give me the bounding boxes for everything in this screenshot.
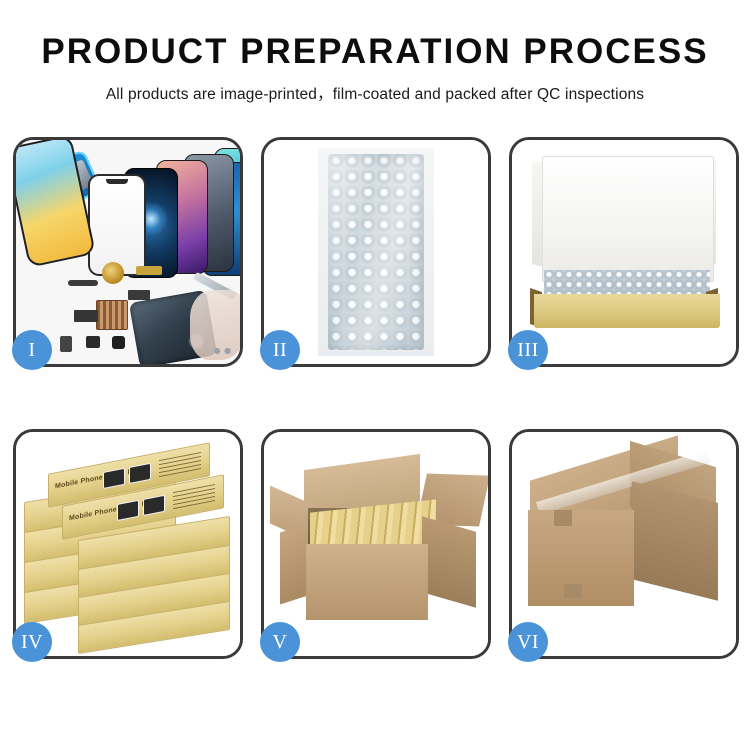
carton-handle-notch-icon xyxy=(564,584,582,598)
step-panel-1: I xyxy=(13,137,243,367)
spare-part-button-icon xyxy=(86,336,100,348)
step-image-5 xyxy=(264,432,488,656)
box-lid-icon xyxy=(542,156,714,282)
process-steps-grid: I II III xyxy=(13,137,739,659)
box-label-phone-image-icon xyxy=(117,500,139,521)
spare-part-camera-icon xyxy=(112,336,125,349)
step-image-3 xyxy=(512,140,736,364)
spare-part-connector-icon xyxy=(128,290,150,300)
carton-side-panel-icon xyxy=(422,516,476,607)
carton-left-panel-icon xyxy=(280,523,308,604)
phone-front-glass-icon xyxy=(88,174,146,276)
step-badge-6: VI xyxy=(508,622,548,662)
step-badge-1: I xyxy=(12,330,52,370)
page-title: PRODUCT PREPARATION PROCESS xyxy=(0,34,750,69)
spare-part-chip-icon xyxy=(96,300,128,330)
step-image-1 xyxy=(16,140,240,364)
step-badge-5: V xyxy=(260,622,300,662)
kraft-box-front-icon xyxy=(534,294,720,328)
box-label-phone-image-icon xyxy=(103,468,125,489)
spare-part-bar-icon xyxy=(68,280,98,286)
spare-part-flex-cable-icon xyxy=(136,266,162,275)
step-panel-5: V xyxy=(261,429,491,659)
step-image-2 xyxy=(264,140,488,364)
step-badge-3: III xyxy=(508,330,548,370)
spare-part-speaker-icon xyxy=(60,336,72,352)
box-label-phone-image-icon xyxy=(129,463,151,484)
box-label-spec-lines xyxy=(159,452,201,478)
spare-part-coil-icon xyxy=(102,262,124,284)
box-label-spec-lines xyxy=(173,484,215,510)
page-header: PRODUCT PREPARATION PROCESS All products… xyxy=(0,0,750,104)
screws-icon xyxy=(212,346,238,356)
bubble-wrapped-contents-icon xyxy=(544,270,710,296)
plastic-sheen-icon xyxy=(328,154,424,350)
step-badge-2: II xyxy=(260,330,300,370)
product-preparation-page: PRODUCT PREPARATION PROCESS All products… xyxy=(0,0,750,750)
page-subtitle: All products are image-printed，film-coat… xyxy=(0,82,750,104)
carton-front-panel-icon xyxy=(306,544,428,620)
box-label-phone-image-icon xyxy=(143,495,165,516)
step-badge-4: IV xyxy=(12,622,52,662)
box-stack-icon: Mobile Phone Spare Parts Mobile Phone Sp… xyxy=(22,446,234,646)
step-image-6 xyxy=(512,432,736,656)
carton-handle-notch-icon xyxy=(554,510,572,526)
spare-part-module-icon xyxy=(74,310,98,322)
step-panel-6: VI xyxy=(509,429,739,659)
sealed-carton-side-icon xyxy=(632,481,718,600)
step-image-4: Mobile Phone Spare Parts Mobile Phone Sp… xyxy=(16,432,240,656)
step-panel-4: Mobile Phone Spare Parts Mobile Phone Sp… xyxy=(13,429,243,659)
step-panel-2: II xyxy=(261,137,491,367)
step-panel-3: III xyxy=(509,137,739,367)
